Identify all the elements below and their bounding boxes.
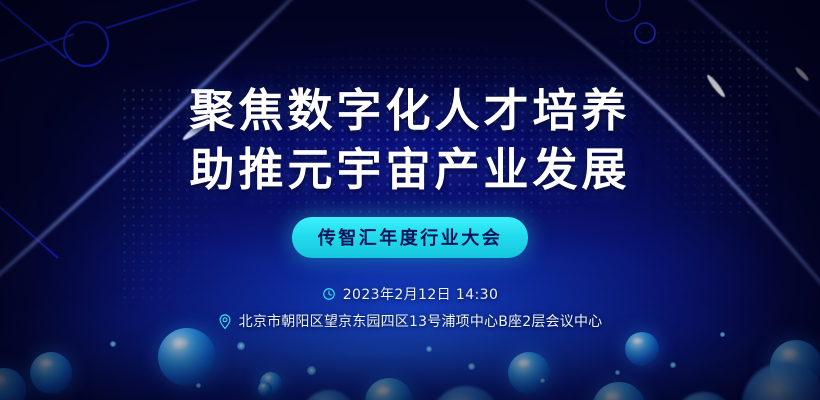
event-time-row: 2023年2月12日 14:30 — [322, 284, 499, 304]
banner-content: 聚焦数字化人才培养 助推元宇宙产业发展 传智汇年度行业大会 2023年2月12日… — [0, 0, 820, 400]
event-time-text: 2023年2月12日 14:30 — [343, 284, 499, 304]
clock-icon — [322, 287, 336, 301]
event-location-row: 北京市朝阳区望京东园四区13号浦项中心B座2层会议中心 — [218, 311, 603, 331]
title-block: 聚焦数字化人才培养 助推元宇宙产业发展 — [189, 82, 630, 199]
map-pin-icon — [218, 314, 232, 329]
event-badge: 传智汇年度行业大会 — [292, 217, 529, 258]
event-location-text: 北京市朝阳区望京东园四区13号浦项中心B座2层会议中心 — [239, 311, 603, 331]
event-banner: 聚焦数字化人才培养 助推元宇宙产业发展 传智汇年度行业大会 2023年2月12日… — [0, 0, 820, 400]
title-line-1: 聚焦数字化人才培养 — [189, 82, 630, 141]
title-line-2: 助推元宇宙产业发展 — [189, 141, 630, 200]
